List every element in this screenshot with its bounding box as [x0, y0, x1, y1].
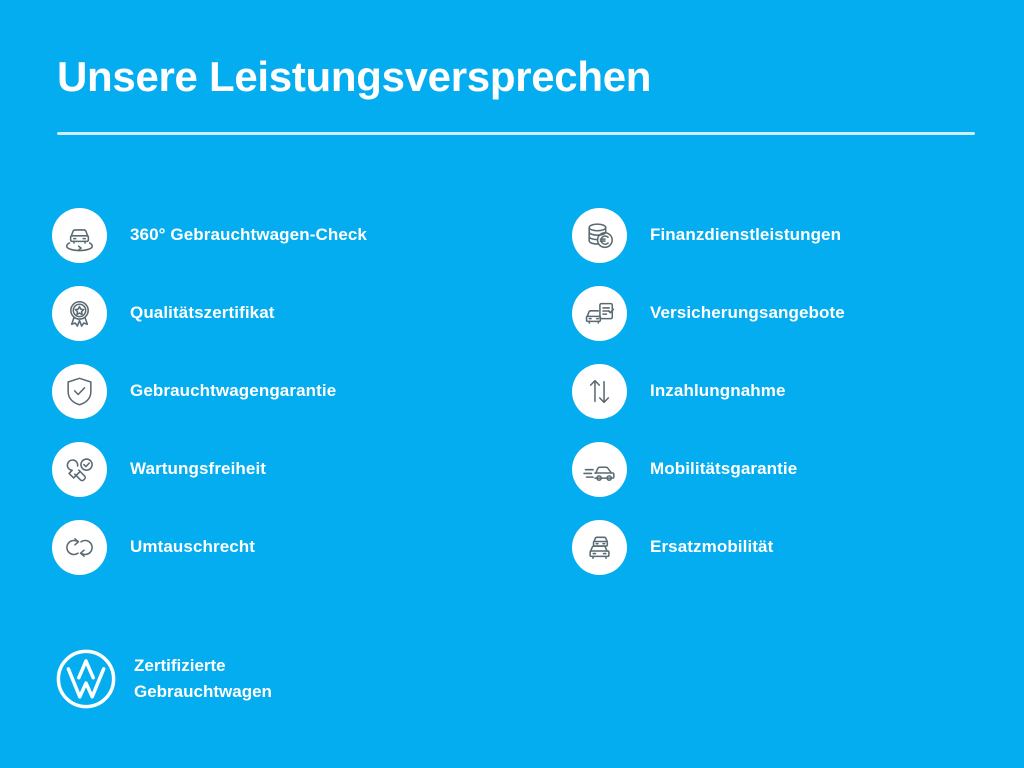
benefit-item-quality-certificate[interactable]: Qualitätszertifikat: [52, 274, 492, 352]
benefit-label: Inzahlungnahme: [650, 381, 786, 401]
car-insurance-clipboard-icon: [572, 286, 627, 341]
benefit-label: Gebrauchtwagengarantie: [130, 381, 336, 401]
benefit-label: Umtauschrecht: [130, 537, 255, 557]
car-360-check-icon: [52, 208, 107, 263]
benefit-label: Finanzdienstleistungen: [650, 225, 841, 245]
benefit-item-maintenance-free[interactable]: Wartungsfreiheit: [52, 430, 492, 508]
brand-lockup: Zertifizierte Gebrauchtwagen: [55, 648, 272, 710]
quality-medal-icon: [52, 286, 107, 341]
up-down-arrows-icon: [572, 364, 627, 419]
benefit-label: 360° Gebrauchtwagen-Check: [130, 225, 367, 245]
benefit-item-warranty[interactable]: Gebrauchtwagengarantie: [52, 352, 492, 430]
benefit-item-replacement-mobility[interactable]: Ersatzmobilität: [572, 508, 1012, 586]
benefits-slide: Unsere Leistungsversprechen 360° Gebrauc…: [0, 0, 1024, 768]
two-cars-icon: [572, 520, 627, 575]
benefit-label: Mobilitätsgarantie: [650, 459, 797, 479]
brand-text-line1: Zertifizierte: [134, 656, 226, 675]
benefit-label: Qualitätszertifikat: [130, 303, 275, 323]
benefit-label: Wartungsfreiheit: [130, 459, 266, 479]
title-divider: [57, 132, 975, 135]
benefit-item-exchange-right[interactable]: Umtauschrecht: [52, 508, 492, 586]
brand-text-line2: Gebrauchtwagen: [134, 682, 272, 701]
benefit-label: Ersatzmobilität: [650, 537, 773, 557]
benefits-right-column: Finanzdienstleistungen Versicherungsange…: [572, 196, 1012, 586]
shield-check-icon: [52, 364, 107, 419]
coins-euro-icon: [572, 208, 627, 263]
benefit-item-financial-services[interactable]: Finanzdienstleistungen: [572, 196, 1012, 274]
exchange-arrows-icon: [52, 520, 107, 575]
benefit-item-trade-in[interactable]: Inzahlungnahme: [572, 352, 1012, 430]
brand-text: Zertifizierte Gebrauchtwagen: [134, 653, 272, 705]
volkswagen-logo: [55, 648, 117, 710]
benefit-label: Versicherungsangebote: [650, 303, 845, 323]
page-title: Unsere Leistungsversprechen: [57, 51, 651, 103]
benefit-item-insurance-offers[interactable]: Versicherungsangebote: [572, 274, 1012, 352]
benefit-item-360-check[interactable]: 360° Gebrauchtwagen-Check: [52, 196, 492, 274]
benefits-left-column: 360° Gebrauchtwagen-Check Qualitätszerti…: [52, 196, 492, 586]
car-mobility-icon: [572, 442, 627, 497]
benefit-item-mobility-guarantee[interactable]: Mobilitätsgarantie: [572, 430, 1012, 508]
wrench-check-icon: [52, 442, 107, 497]
